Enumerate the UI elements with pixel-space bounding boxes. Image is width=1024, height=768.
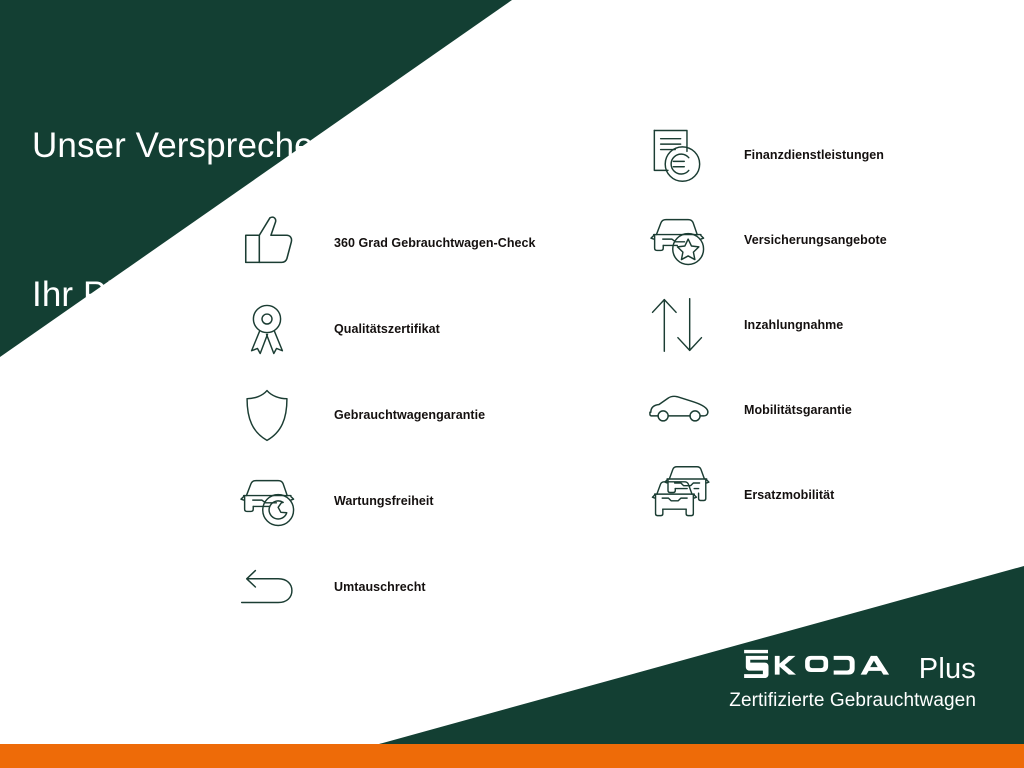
feature-item: Gebrauchtwagengarantie — [238, 372, 578, 458]
brand-lockup: Plus Zertifizierte Gebrauchtwagen — [729, 649, 976, 710]
feature-item: Versicherungsangebote — [648, 197, 988, 282]
bottom-orange-bar — [0, 744, 1024, 768]
feature-item: Inzahlungnahme — [648, 282, 988, 367]
feature-item: Umtauschrecht — [238, 544, 578, 630]
feature-list-right: Finanzdienstleistungen Versicherungsange… — [648, 112, 988, 537]
feature-item: Wartungsfreiheit — [238, 458, 578, 544]
feature-label: Mobilitätsgarantie — [744, 403, 852, 417]
feature-label: Finanzdienstleistungen — [744, 148, 884, 162]
two-cars-icon — [648, 459, 720, 531]
feature-label: Versicherungsangebote — [744, 233, 887, 247]
award-rosette-icon — [238, 293, 310, 365]
skoda-wordmark — [742, 649, 910, 678]
brand-plus-label: Plus — [919, 655, 976, 684]
return-arrow-icon — [238, 551, 310, 623]
headline-line-1: Unser Versprechen. — [32, 121, 343, 171]
shield-icon — [238, 379, 310, 451]
slide-canvas: Unser Versprechen. Ihr Plus. 360 Grad Ge… — [0, 0, 1024, 768]
thumbs-up-icon — [238, 207, 310, 279]
document-euro-icon — [648, 119, 720, 191]
feature-label: Qualitätszertifikat — [334, 322, 440, 336]
car-star-icon — [648, 204, 720, 276]
feature-item: Mobilitätsgarantie — [648, 367, 988, 452]
feature-label: Gebrauchtwagengarantie — [334, 408, 485, 422]
up-down-arrows-icon — [648, 289, 720, 361]
feature-list-left: 360 Grad Gebrauchtwagen-Check Qualitätsz… — [238, 200, 578, 630]
feature-label: Wartungsfreiheit — [334, 494, 434, 508]
car-wrench-icon — [238, 465, 310, 537]
feature-label: Ersatzmobilität — [744, 488, 834, 502]
brand-wordmark-row: Plus — [729, 649, 976, 684]
feature-item: Finanzdienstleistungen — [648, 112, 988, 197]
feature-label: 360 Grad Gebrauchtwagen-Check — [334, 236, 536, 250]
feature-item: Qualitätszertifikat — [238, 286, 578, 372]
feature-item: Ersatzmobilität — [648, 452, 988, 537]
feature-label: Umtauschrecht — [334, 580, 426, 594]
feature-label: Inzahlungnahme — [744, 318, 843, 332]
feature-item: 360 Grad Gebrauchtwagen-Check — [238, 200, 578, 286]
brand-tagline: Zertifizierte Gebrauchtwagen — [729, 691, 976, 710]
car-side-icon — [648, 374, 720, 446]
